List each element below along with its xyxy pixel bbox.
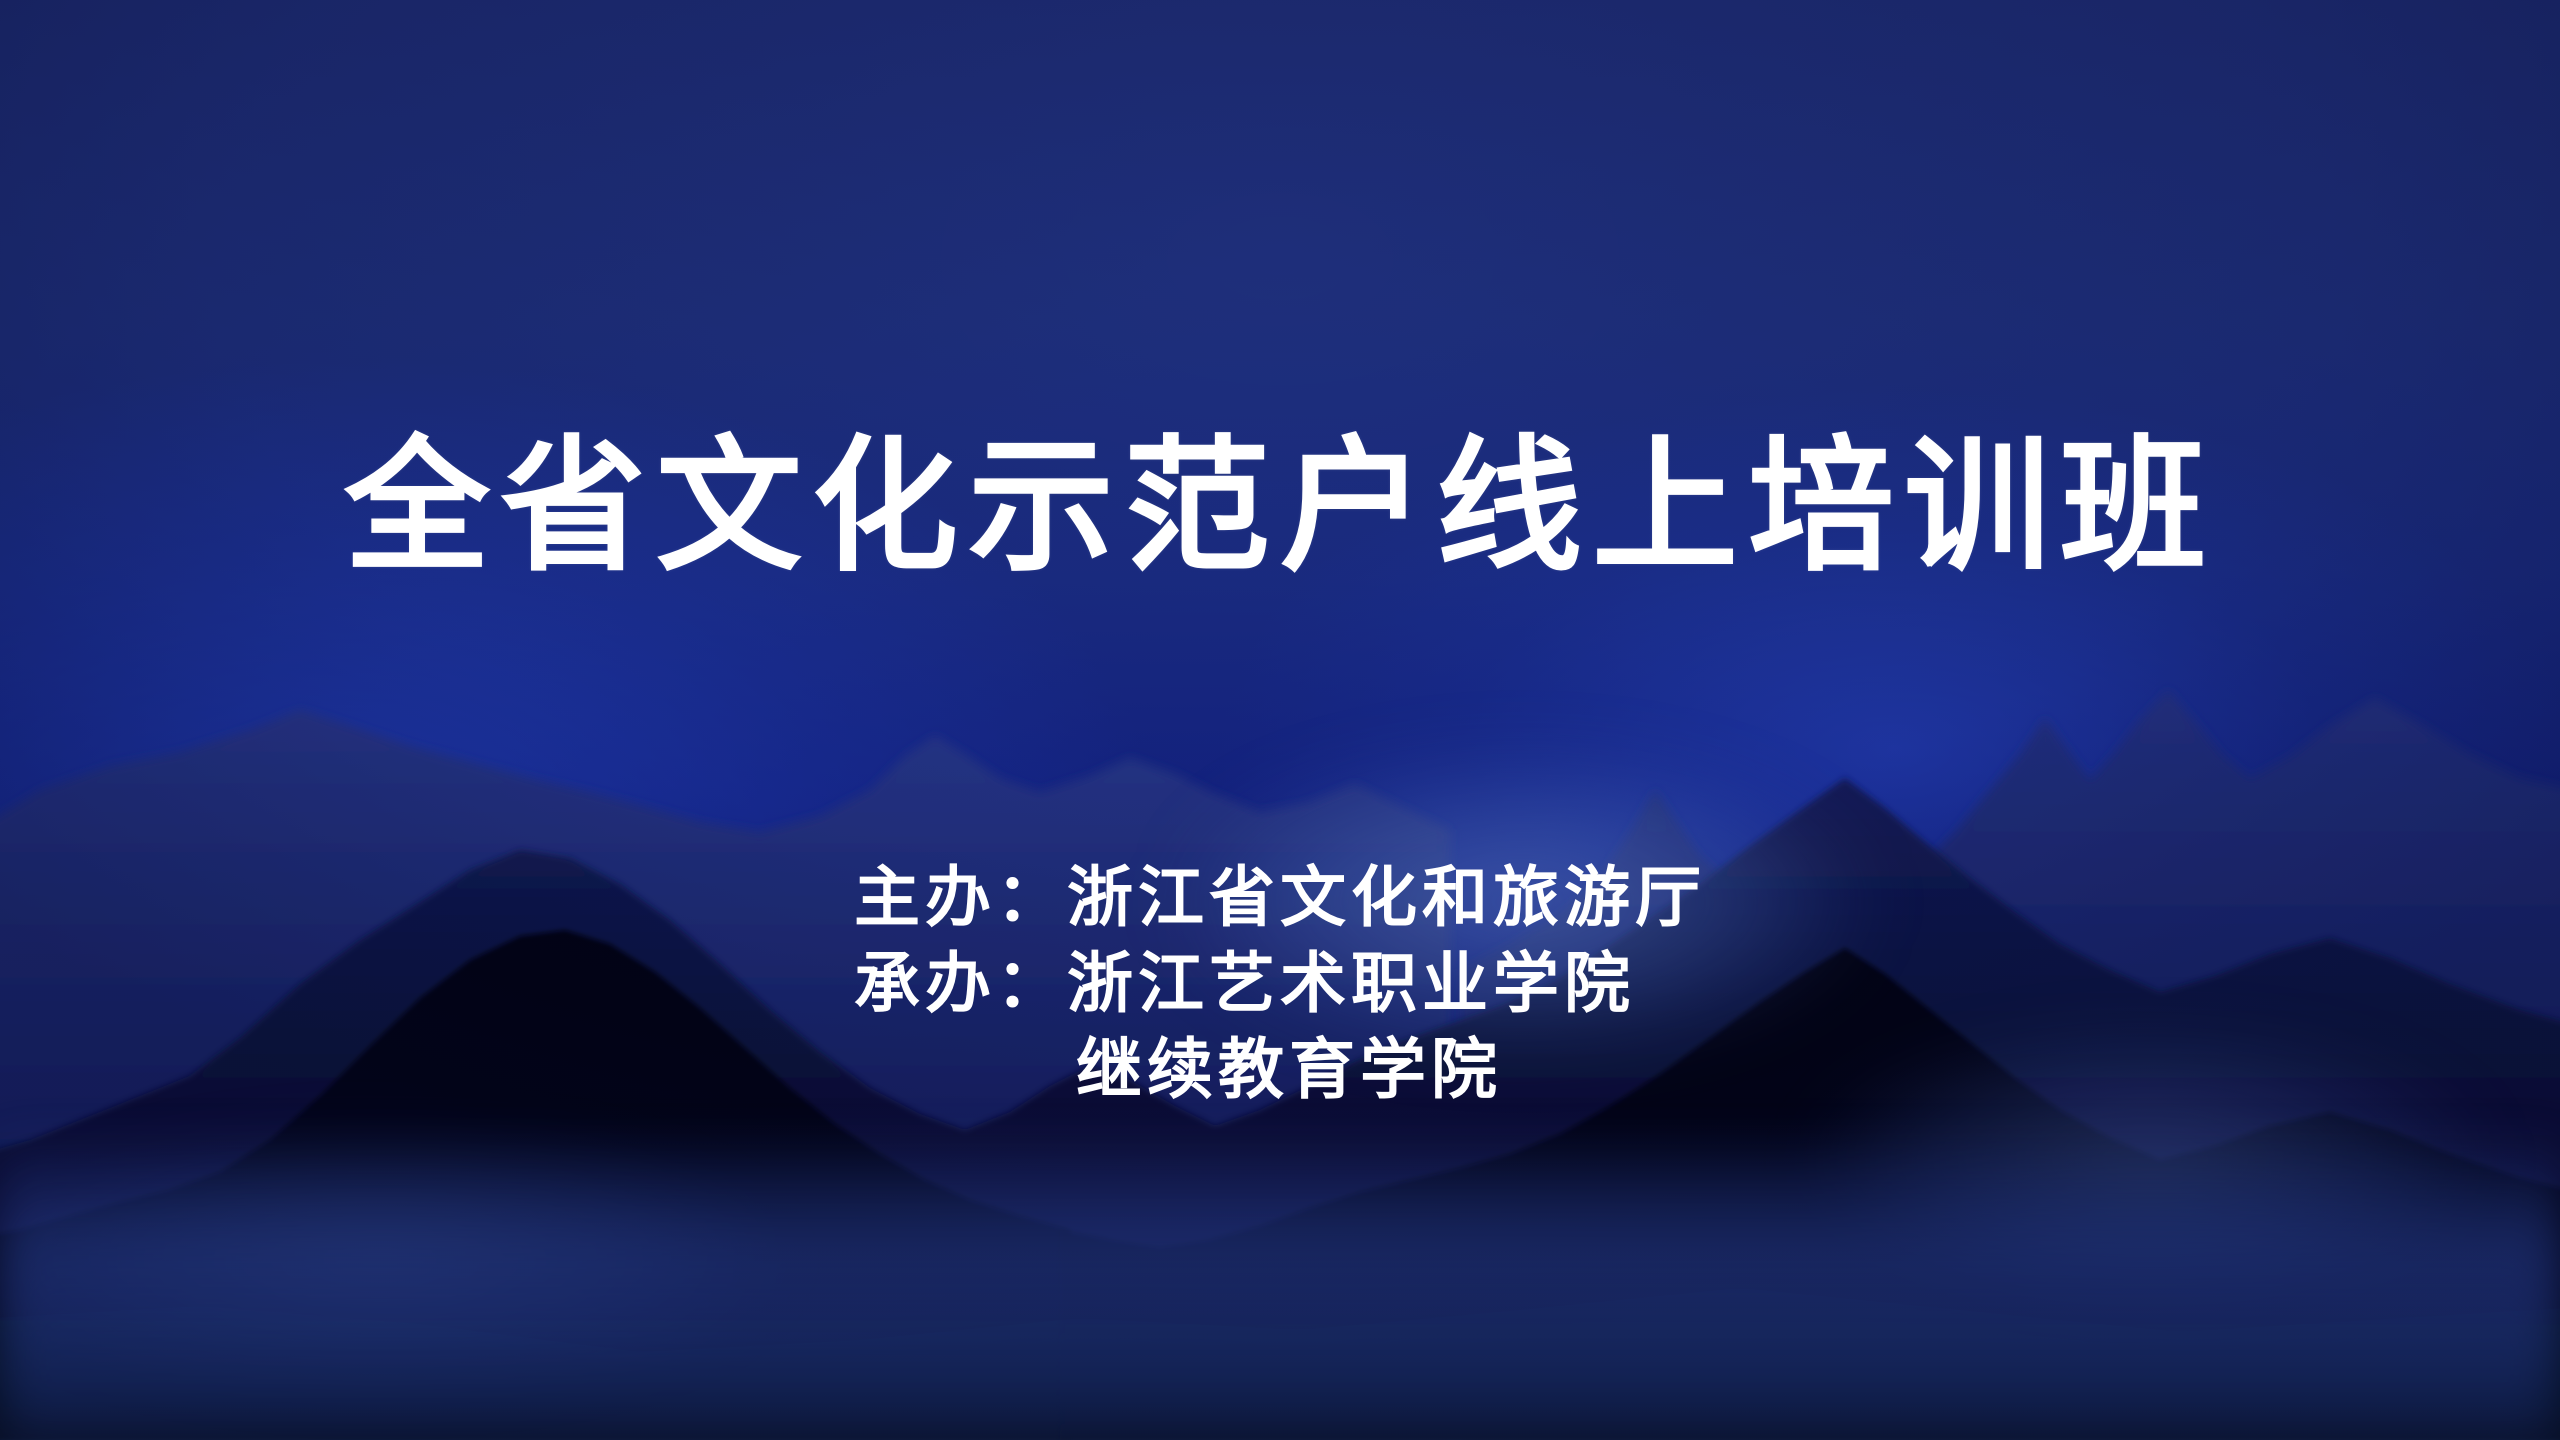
slide-title: 全省文化示范户线上培训班 [0,425,2560,589]
slide-subtitle-block: 主办：浙江省文化和旅游厅 承办：浙江艺术职业学院 继续教育学院 [0,855,2560,1112]
subtitle-line-organizer: 主办：浙江省文化和旅游厅 [854,855,1706,941]
subtitle-rows: 主办：浙江省文化和旅游厅 承办：浙江艺术职业学院 继续教育学院 [854,855,1706,1112]
subtitle-line-department: 继续教育学院 [854,1027,1706,1113]
title-slide: 全省文化示范户线上培训班 主办：浙江省文化和旅游厅 承办：浙江艺术职业学院 继续… [0,0,2560,1440]
subtitle-line-host: 承办：浙江艺术职业学院 [854,941,1706,1027]
slide-content: 全省文化示范户线上培训班 主办：浙江省文化和旅游厅 承办：浙江艺术职业学院 继续… [0,0,2560,1440]
